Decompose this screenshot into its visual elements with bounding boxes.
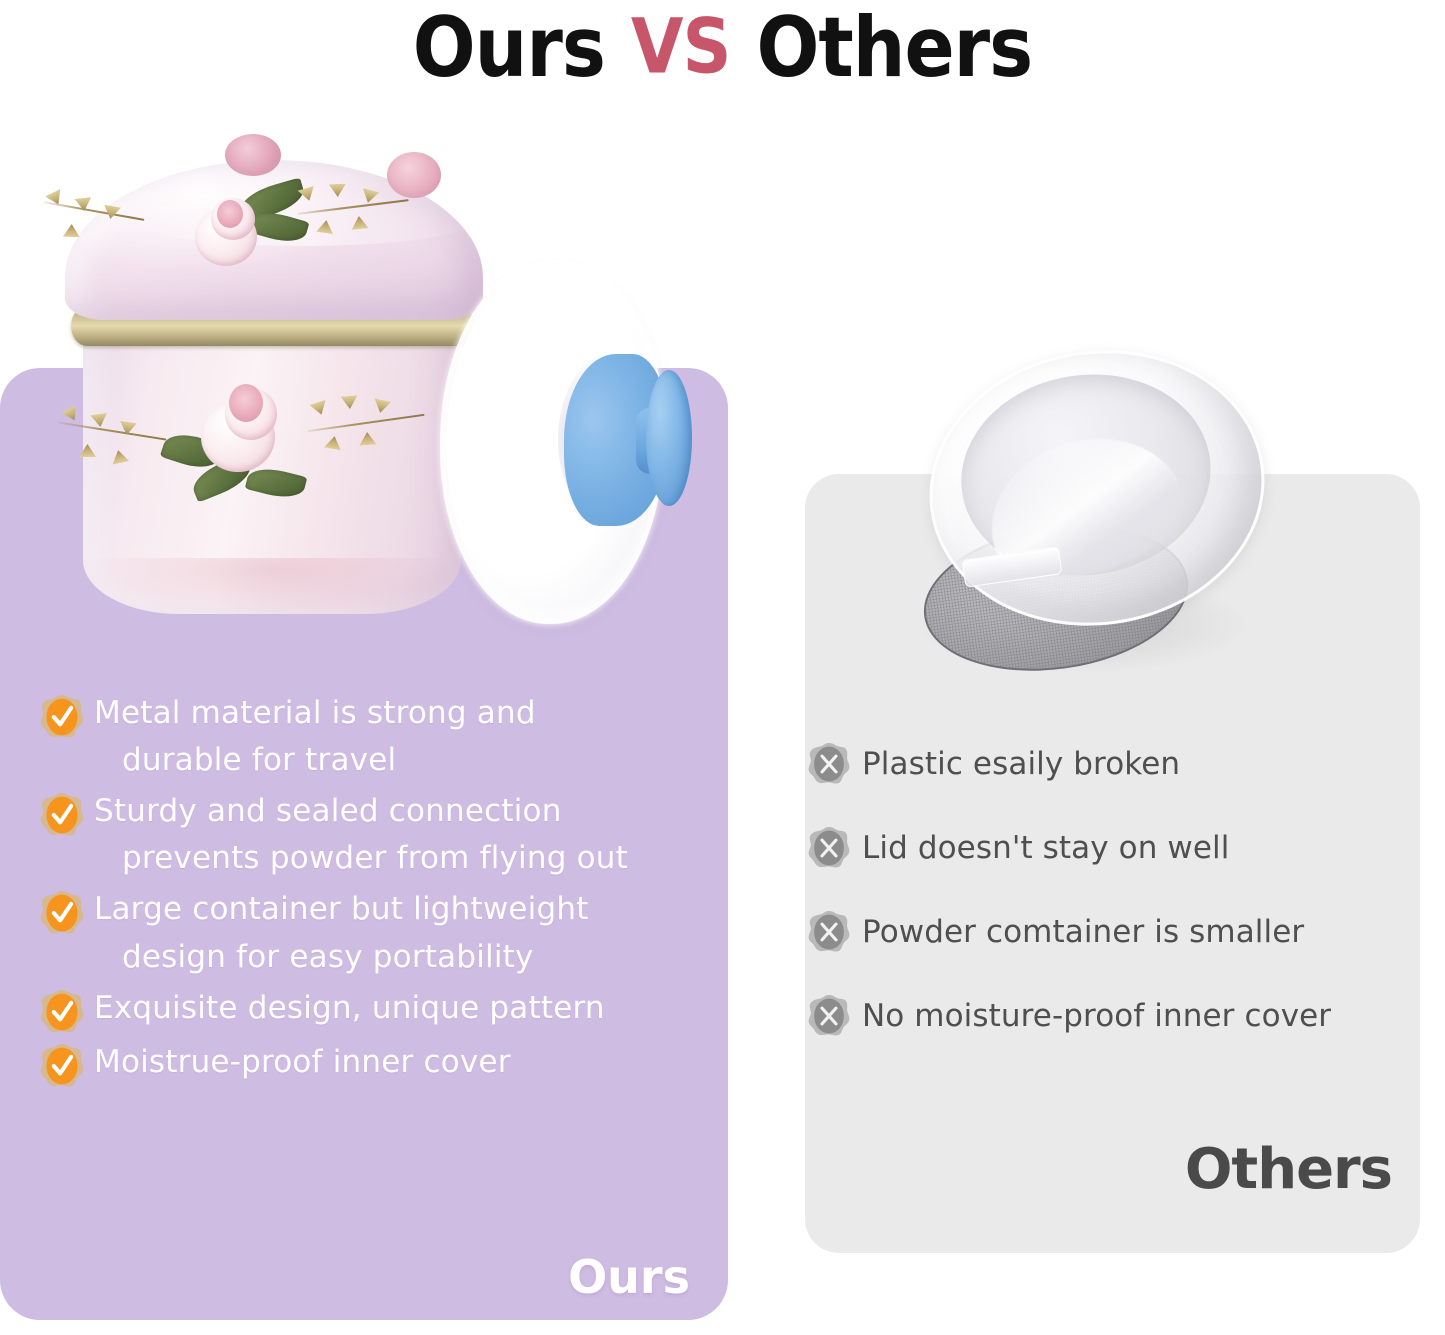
list-item-label: Moistrue-proof inner cover [94,1039,511,1086]
pink-floral-tin-image [35,128,505,620]
powder-puff-image [440,258,692,630]
rose-motif-lid [195,190,315,276]
list-item: No moisture-proof inner cover [808,994,1408,1038]
check-badge-icon [40,694,84,740]
check-badge-icon [40,792,84,838]
rose-core [217,200,243,228]
list-item: Lid doesn't stay on well [808,826,1408,870]
list-item-label: Plastic esaily broken [862,744,1180,784]
ours-footer-label: Ours [0,1250,690,1304]
list-item-label: Lid doesn't stay on well [862,828,1229,868]
list-item-label: Metal material is strong and durable for… [94,690,536,784]
check-badge-icon [40,989,84,1035]
list-item: Exquisite design, unique pattern [40,985,710,1035]
check-badge-icon [40,1043,84,1089]
ours-feature-list: Metal material is strong and durable for… [40,690,710,1093]
list-item-label: Exquisite design, unique pattern [94,985,605,1032]
list-item: Sturdy and sealed connection prevents po… [40,788,710,882]
cross-badge-icon [808,994,850,1038]
list-item-label: Sturdy and sealed connection prevents po… [94,788,628,882]
tin-body-shading [83,558,461,618]
list-item-label: No moisture-proof inner cover [862,996,1331,1036]
cross-badge-icon [808,826,850,870]
rose-core [229,384,263,422]
list-item: Powder comtainer is smaller [808,910,1408,954]
cross-badge-icon [808,742,850,786]
puff-handle-cap [646,370,692,506]
cross-badge-icon [808,910,850,954]
plastic-container-image [895,345,1275,685]
list-item: Metal material is strong and durable for… [40,690,710,784]
title-word-vs: VS [631,10,731,86]
list-item: Moistrue-proof inner cover [40,1039,710,1089]
rose-petal [387,152,441,198]
rose-petal [225,134,281,176]
rose-motif-body [195,380,325,492]
rose-motif-lid-back [225,134,305,190]
page-title: Ours VS Others [0,0,1445,96]
rose-motif-lid-right [387,146,467,206]
list-item-label: Large container but lightweight design f… [94,886,589,980]
check-badge-icon [40,890,84,936]
title-word-others: Others [757,7,1033,90]
list-item-label: Powder comtainer is smaller [862,912,1304,952]
title-word-ours: Ours [413,7,605,90]
list-item: Large container but lightweight design f… [40,886,710,980]
others-footer-label: Others [0,1137,1392,1202]
others-drawback-list: Plastic esaily broken Lid doesn't stay o… [808,742,1408,1078]
list-item: Plastic esaily broken [808,742,1408,786]
